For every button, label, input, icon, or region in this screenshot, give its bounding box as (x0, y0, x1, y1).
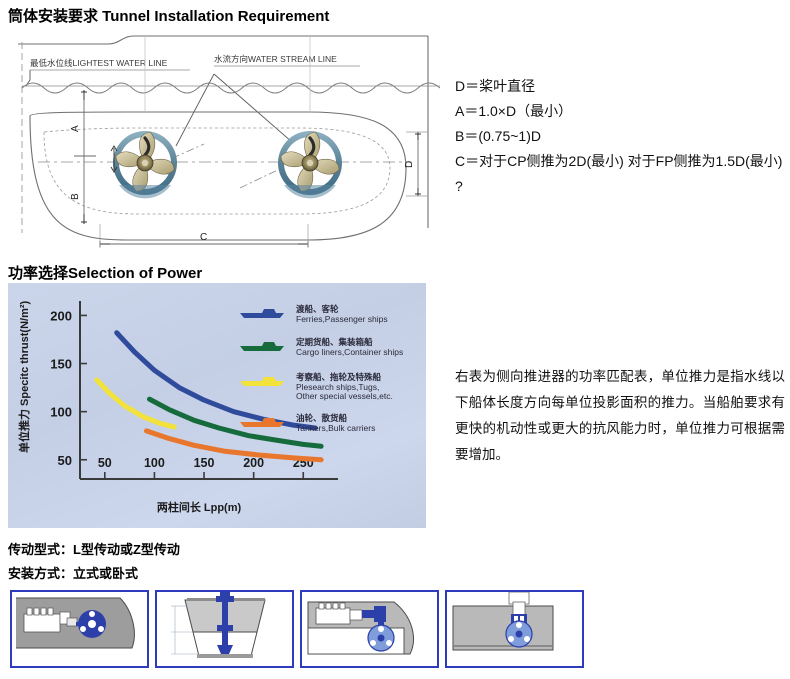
legend-label-cn-3: 油轮、散货船 (296, 413, 348, 423)
thumbnail-vertical-l-drive-thruster-section[interactable] (155, 590, 294, 668)
tunnel-installation-drawing: 最低水位线LIGHTEST WATER LINE 水流方向WATER STREA… (8, 28, 440, 253)
dimension-label-d: D (404, 161, 415, 168)
legend-label-cn-0: 渡船、客轮 (296, 304, 339, 314)
selection-of-power-heading: 功率选择Selection of Power (8, 262, 202, 283)
tunnel-installation-heading: 筒体安装要求 Tunnel Installation Requirement (8, 5, 329, 26)
x-tick-label: 200 (243, 456, 264, 470)
dimension-label-c: C (200, 232, 207, 243)
y-axis-label: 单位推力 Specitc thrust(N/m²) (17, 300, 31, 453)
x-axis-label: 两柱间长 Lpp(m) (157, 500, 242, 514)
legend-ship-marker-0 (240, 309, 284, 318)
chart-legend: 渡船、客轮Ferries,Passenger ships定期货船、集装箱船Car… (240, 304, 403, 433)
power-matching-note: 右表为侧向推进器的功率匹配表，单位推力是指水线以下船体长度方向每单位投影面积的推… (455, 364, 785, 468)
thrust-curve-0 (117, 333, 315, 428)
tunnel-thruster-propeller-2 (278, 131, 342, 198)
legend-label-en-3: Tankers,Bulk carriers (296, 423, 375, 433)
formula-line-extra: ? (455, 174, 785, 199)
thrust-curves (97, 333, 321, 460)
formula-line-a: A＝1.0×D（最小） (455, 99, 785, 124)
y-tick-label: 100 (50, 405, 72, 420)
dimension-label-a: A (70, 125, 81, 132)
y-axis-ticks: 50100150200 (50, 308, 87, 467)
formula-line-d: D＝桨叶直径 (455, 74, 785, 99)
thumbnail-engine-room-thruster-arrangement[interactable] (300, 590, 439, 668)
thumbnail-vertical-mounted-thruster-unit[interactable] (445, 590, 584, 668)
x-axis-ticks: 50100150200250 (98, 456, 314, 479)
dimension-formula-block: D＝桨叶直径 A＝1.0×D（最小） B＝(0.75~1)D C＝对于CP侧推为… (455, 74, 785, 199)
legend-label-en2-2: Other special vessels,etc. (296, 391, 393, 401)
formula-line-c: C＝对于CP侧推为2D(最小) 对于FP侧推为1.5D(最小) (455, 149, 785, 174)
legend-ship-marker-1 (240, 342, 284, 351)
lightest-water-line-label: 最低水位线LIGHTEST WATER LINE (30, 58, 168, 68)
legend-label-en-1: Cargo liners,Container ships (296, 347, 403, 357)
legend-label-cn-1: 定期货船、集装箱船 (295, 337, 373, 347)
dimension-label-b: B (70, 193, 81, 200)
legend-label-cn-2: 考察船、拖轮及特殊船 (296, 372, 382, 382)
page-root: 筒体安装要求 Tunnel Installation Requirement (0, 0, 790, 679)
y-tick-label: 150 (50, 357, 72, 372)
formula-line-b: B＝(0.75~1)D (455, 124, 785, 149)
legend-label-en-0: Ferries,Passenger ships (296, 314, 388, 324)
water-stream-line-label: 水流方向WATER STREAM LINE (214, 54, 337, 64)
thumbnail-horizontal-engine-driven-thruster[interactable] (10, 590, 149, 668)
x-tick-label: 50 (98, 456, 112, 470)
tunnel-thruster-propeller-1 (113, 131, 177, 198)
y-tick-label: 200 (50, 308, 72, 323)
specific-thrust-chart: 50100150200 50100150200250 渡船、客轮Ferries,… (8, 283, 426, 528)
legend-ship-marker-2 (240, 377, 284, 386)
drive-type-line: 传动型式：L型传动或Z型传动 (8, 539, 180, 558)
mounting-type-line: 安装方式：立式或卧式 (8, 563, 138, 582)
x-tick-label: 100 (144, 456, 165, 470)
y-tick-label: 50 (58, 453, 72, 468)
installation-thumbnail-row (10, 590, 584, 668)
x-tick-label: 150 (194, 456, 215, 470)
